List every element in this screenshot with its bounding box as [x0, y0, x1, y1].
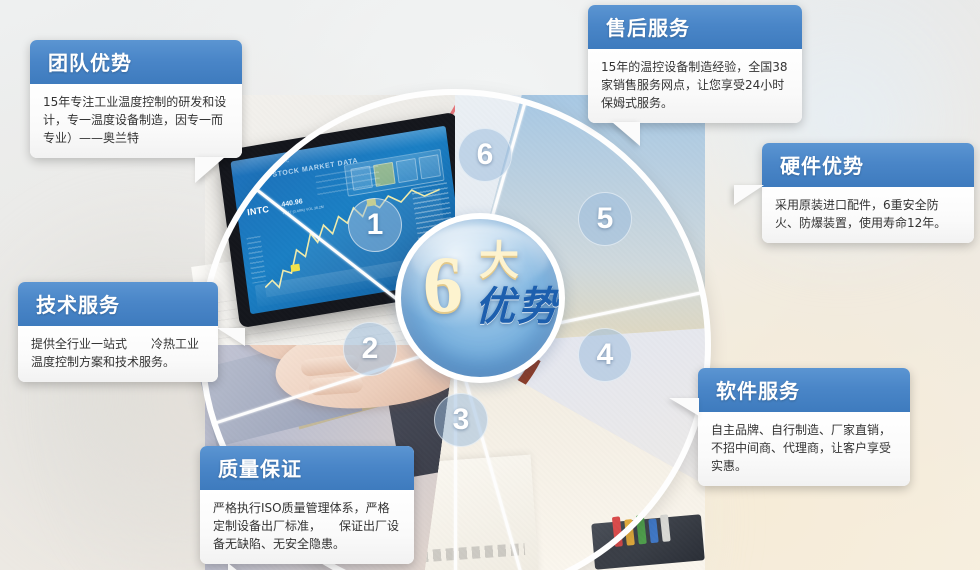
callout-quality-title: 质量保证: [200, 446, 414, 490]
badge-6[interactable]: 6: [458, 128, 512, 182]
callout-team-body: 15年专注工业温度控制的研发和设计，专一温度设备制造，因专一而专业）——奥兰特: [30, 84, 242, 158]
callout-software[interactable]: 软件服务 自主品牌、自行制造、厂家直销，不招中间商、代理商，让客户享受实惠。: [698, 368, 910, 486]
callout-hardware-title: 硬件优势: [762, 143, 974, 187]
callout-software-tail: [669, 398, 699, 428]
callout-after-sales-title: 售后服务: [588, 5, 802, 49]
badge-3[interactable]: 3: [434, 393, 488, 447]
badge-5[interactable]: 5: [578, 192, 632, 246]
callout-technical[interactable]: 技术服务 提供全行业一站式 冷热工业温度控制方案和技术服务。: [18, 282, 218, 382]
callout-hardware[interactable]: 硬件优势 采用原装进口配件，6重安全防火、防爆装置，使用寿命12年。: [762, 143, 974, 243]
callout-after-sales[interactable]: 售后服务 15年的温控设备制造经验，全国38家销售服务网点，让您享受24小时保姆…: [588, 5, 802, 123]
badge-2[interactable]: 2: [343, 322, 397, 376]
callout-software-title: 软件服务: [698, 368, 910, 412]
callout-quality-tail: [228, 563, 258, 570]
callout-team-title: 团队优势: [30, 40, 242, 84]
center-script-word: 优势: [475, 285, 559, 329]
callout-technical-body: 提供全行业一站式 冷热工业温度控制方案和技术服务。: [18, 326, 218, 382]
callout-quality[interactable]: 质量保证 严格执行ISO质量管理体系，严格定制设备出厂标准， 保证出厂设备无缺陷…: [200, 446, 414, 564]
callout-technical-tail: [217, 328, 245, 358]
badge-1[interactable]: 1: [348, 198, 402, 252]
infographic-canvas: NTC STOCK MARKET DATA INTC 440.96 +2.17 …: [0, 0, 980, 570]
callout-after-sales-body: 15年的温控设备制造经验，全国38家销售服务网点，让您享受24小时保姆式服务。: [588, 49, 802, 123]
callout-after-sales-tail: [612, 122, 640, 146]
callout-software-body: 自主品牌、自行制造、厂家直销，不招中间商、代理商，让客户享受实惠。: [698, 412, 910, 486]
callout-quality-body: 严格执行ISO质量管理体系，严格定制设备出厂标准， 保证出厂设备无缺陷、无安全隐…: [200, 490, 414, 564]
callout-hardware-body: 采用原装进口配件，6重安全防火、防爆装置，使用寿命12年。: [762, 187, 974, 243]
callout-team-advantage[interactable]: 团队优势 15年专注工业温度控制的研发和设计，专一温度设备制造，因专一而专业）—…: [30, 40, 242, 158]
center-number: 6: [423, 245, 463, 325]
callout-team-tail: [195, 157, 225, 183]
center-big-word: 大: [479, 241, 519, 281]
center-hub[interactable]: 6 大 优势: [401, 219, 559, 377]
callout-technical-title: 技术服务: [18, 282, 218, 326]
callout-hardware-tail: [734, 185, 764, 215]
badge-4[interactable]: 4: [578, 328, 632, 382]
